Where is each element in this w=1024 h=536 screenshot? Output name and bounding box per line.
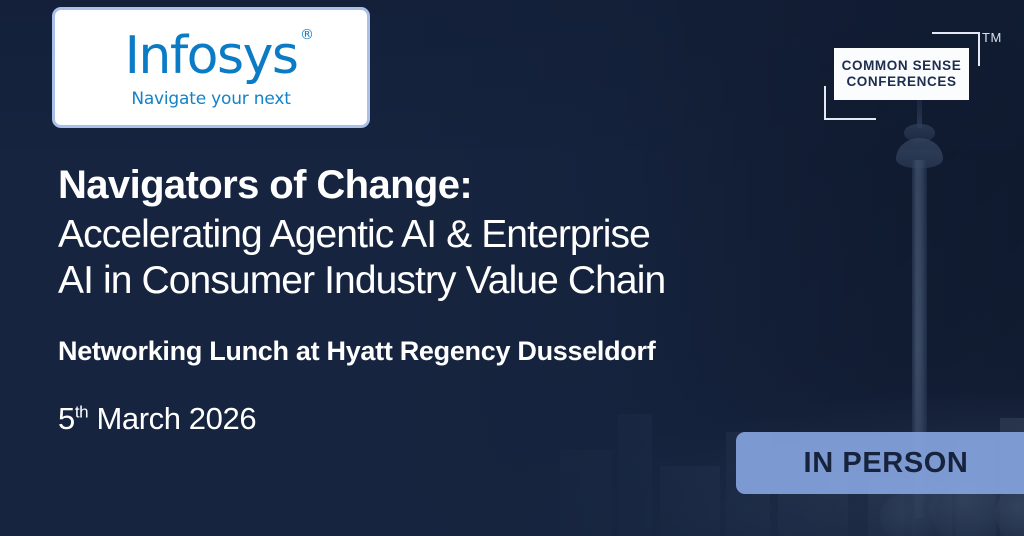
conferences-logo-box: COMMON SENSE CONFERENCES (834, 48, 969, 100)
conferences-logo-line-1: COMMON SENSE (842, 59, 962, 73)
infosys-logo: Infosys ® Navigate your next (52, 7, 370, 128)
registered-trademark-icon: ® (300, 28, 313, 42)
infosys-tagline: Navigate your next (131, 89, 290, 109)
event-date-ordinal: th (75, 403, 88, 422)
subtitle-line-1: Accelerating Agentic AI & Enterprise (58, 212, 984, 258)
subtitle-line-2: AI in Consumer Industry Value Chain (58, 258, 984, 304)
event-date-rest: March 2026 (88, 401, 256, 436)
event-copy: Navigators of Change: Accelerating Agent… (58, 163, 984, 437)
infosys-wordmark-text: Infosys (125, 26, 298, 86)
conferences-logo-line-2: CONFERENCES (846, 75, 956, 89)
infosys-wordmark: Infosys ® (125, 30, 298, 82)
in-person-badge-label: IN PERSON (804, 447, 969, 480)
trademark-icon: TM (982, 30, 1002, 45)
in-person-badge: IN PERSON (736, 432, 1024, 494)
event-banner: Infosys ® Navigate your next COMMON SENS… (0, 0, 1024, 536)
page-title: Navigators of Change: (58, 163, 984, 208)
common-sense-conferences-logo: COMMON SENSE CONFERENCES TM (824, 30, 989, 122)
venue-text: Networking Lunch at Hyatt Regency Dussel… (58, 336, 984, 367)
event-date-day: 5 (58, 401, 75, 436)
